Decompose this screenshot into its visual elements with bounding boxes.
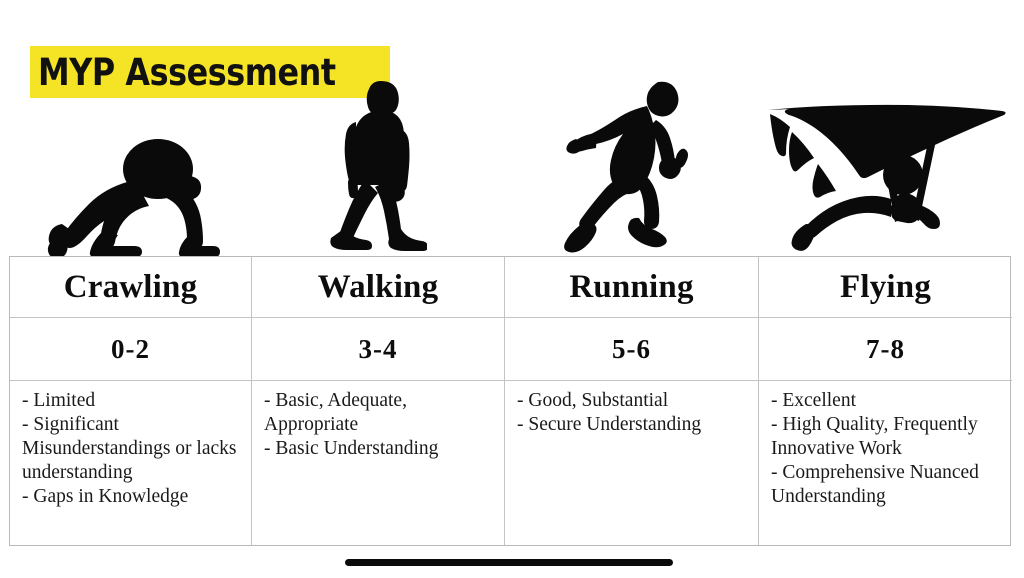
descriptor-item: - Secure Understanding — [517, 413, 748, 437]
table-header-crawling: Crawling — [10, 257, 252, 318]
descriptors-flying: - Excellent - High Quality, Frequently I… — [759, 381, 1012, 545]
score-range-walking: 3-4 — [252, 318, 505, 381]
table-header-flying: Flying — [759, 257, 1012, 318]
assessment-table: Crawling Walking Running Flying 0-2 3-4 … — [9, 256, 1011, 546]
walking-man-silhouette — [251, 18, 504, 256]
home-indicator-bar[interactable] — [345, 559, 673, 566]
descriptor-item: - Good, Substantial — [517, 389, 748, 413]
descriptors-walking: - Basic, Adequate, Appropriate - Basic U… — [252, 381, 505, 545]
descriptor-item: - Gaps in Knowledge — [22, 485, 241, 509]
descriptor-item: - Comprehensive Nuanced Understanding — [771, 461, 1002, 509]
score-range-flying: 7-8 — [759, 318, 1012, 381]
descriptor-item: - Limited — [22, 389, 241, 413]
crawling-baby-silhouette — [9, 18, 251, 256]
hang-glider-silhouette — [758, 18, 1011, 256]
descriptor-item: - Excellent — [771, 389, 1002, 413]
score-range-crawling: 0-2 — [10, 318, 252, 381]
descriptor-item: - Basic, Adequate, Appropriate — [264, 389, 494, 437]
figure-strip — [0, 18, 1024, 256]
score-range-running: 5-6 — [505, 318, 759, 381]
descriptors-running: - Good, Substantial - Secure Understandi… — [505, 381, 759, 545]
table-header-running: Running — [505, 257, 759, 318]
table-header-walking: Walking — [252, 257, 505, 318]
descriptor-item: - High Quality, Frequently Innovative Wo… — [771, 413, 1002, 461]
descriptor-item: - Basic Understanding — [264, 437, 494, 461]
descriptor-item: - Significant Misunderstandings or lacks… — [22, 413, 241, 485]
running-man-silhouette — [504, 18, 758, 256]
descriptors-crawling: - Limited - Significant Misunderstanding… — [10, 381, 252, 545]
